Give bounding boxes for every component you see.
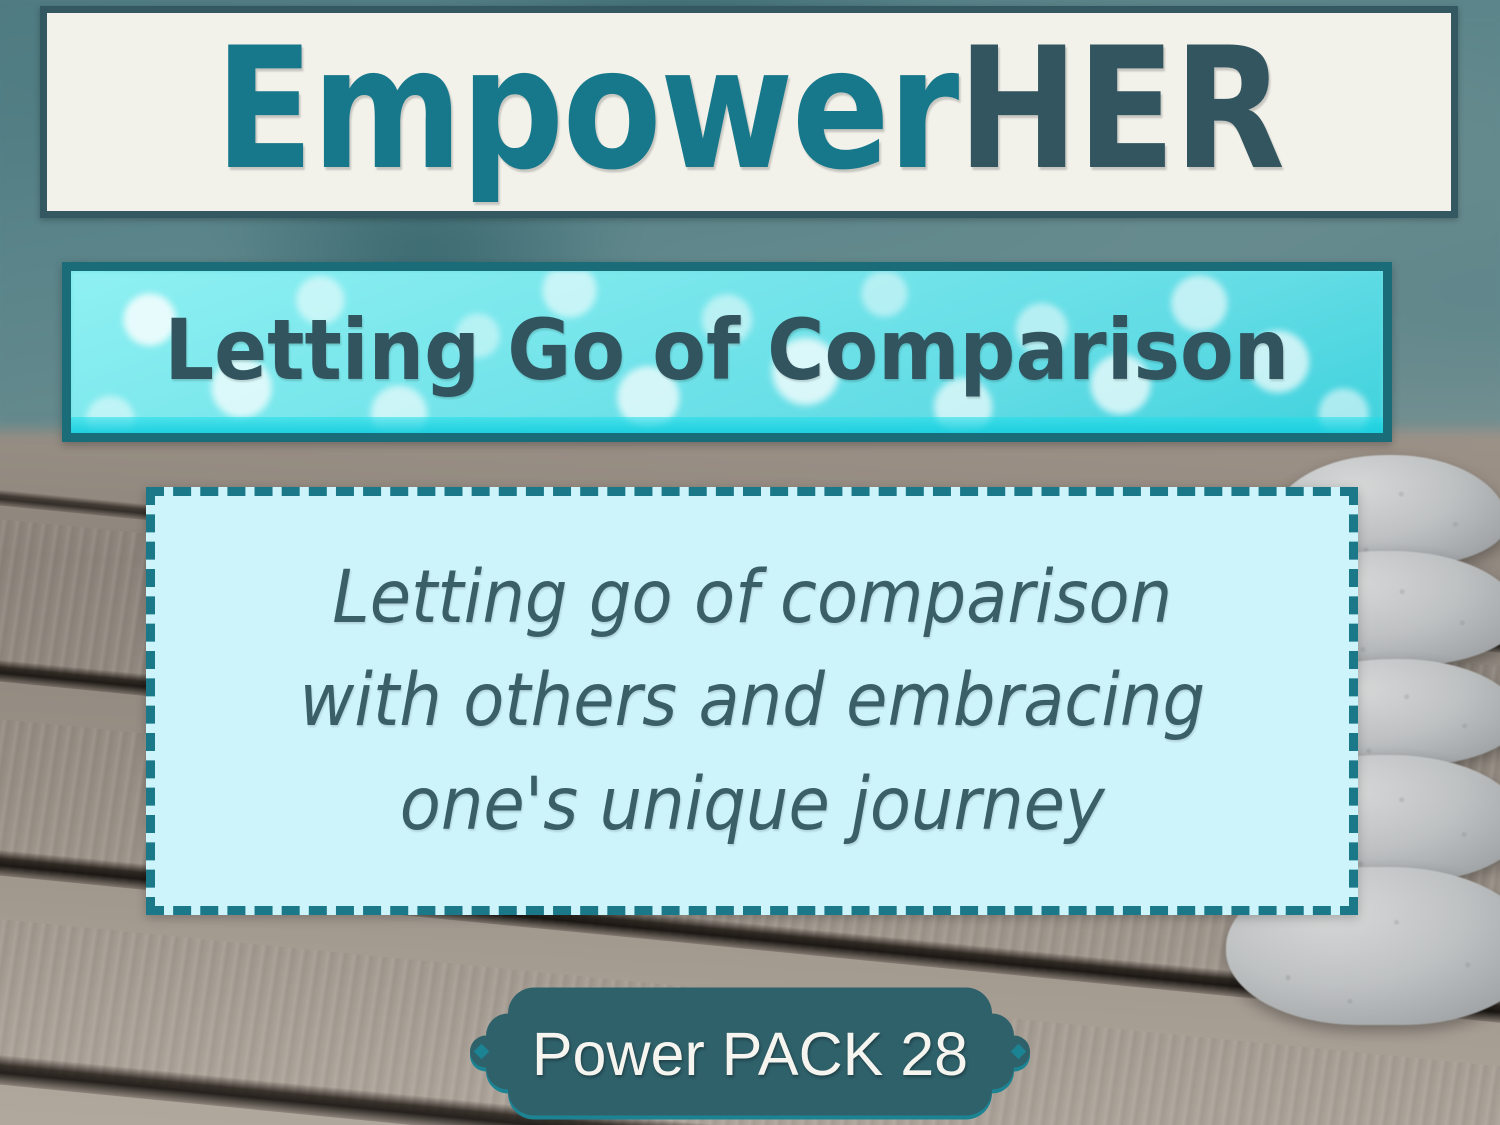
content-description: Letting go of comparison with others and… [299,546,1205,857]
brand-title-her: HER [957,11,1283,207]
brand-title-empower: Empower [215,11,958,207]
badge-plaque-shape [440,978,1060,1125]
power-pack-badge: Power PACK 28 [440,978,1060,1125]
poster-canvas: EmpowerHER Letting Go of Comparison Lett… [0,0,1500,1125]
subtitle-banner: Letting Go of Comparison [62,262,1392,442]
subtitle-text: Letting Go of Comparison [165,308,1290,392]
brand-title: EmpowerHER [215,25,1283,193]
content-box: Letting go of comparison with others and… [146,487,1358,915]
brand-header-panel: EmpowerHER [40,6,1458,218]
bokeh-bottom-strip [71,417,1383,433]
